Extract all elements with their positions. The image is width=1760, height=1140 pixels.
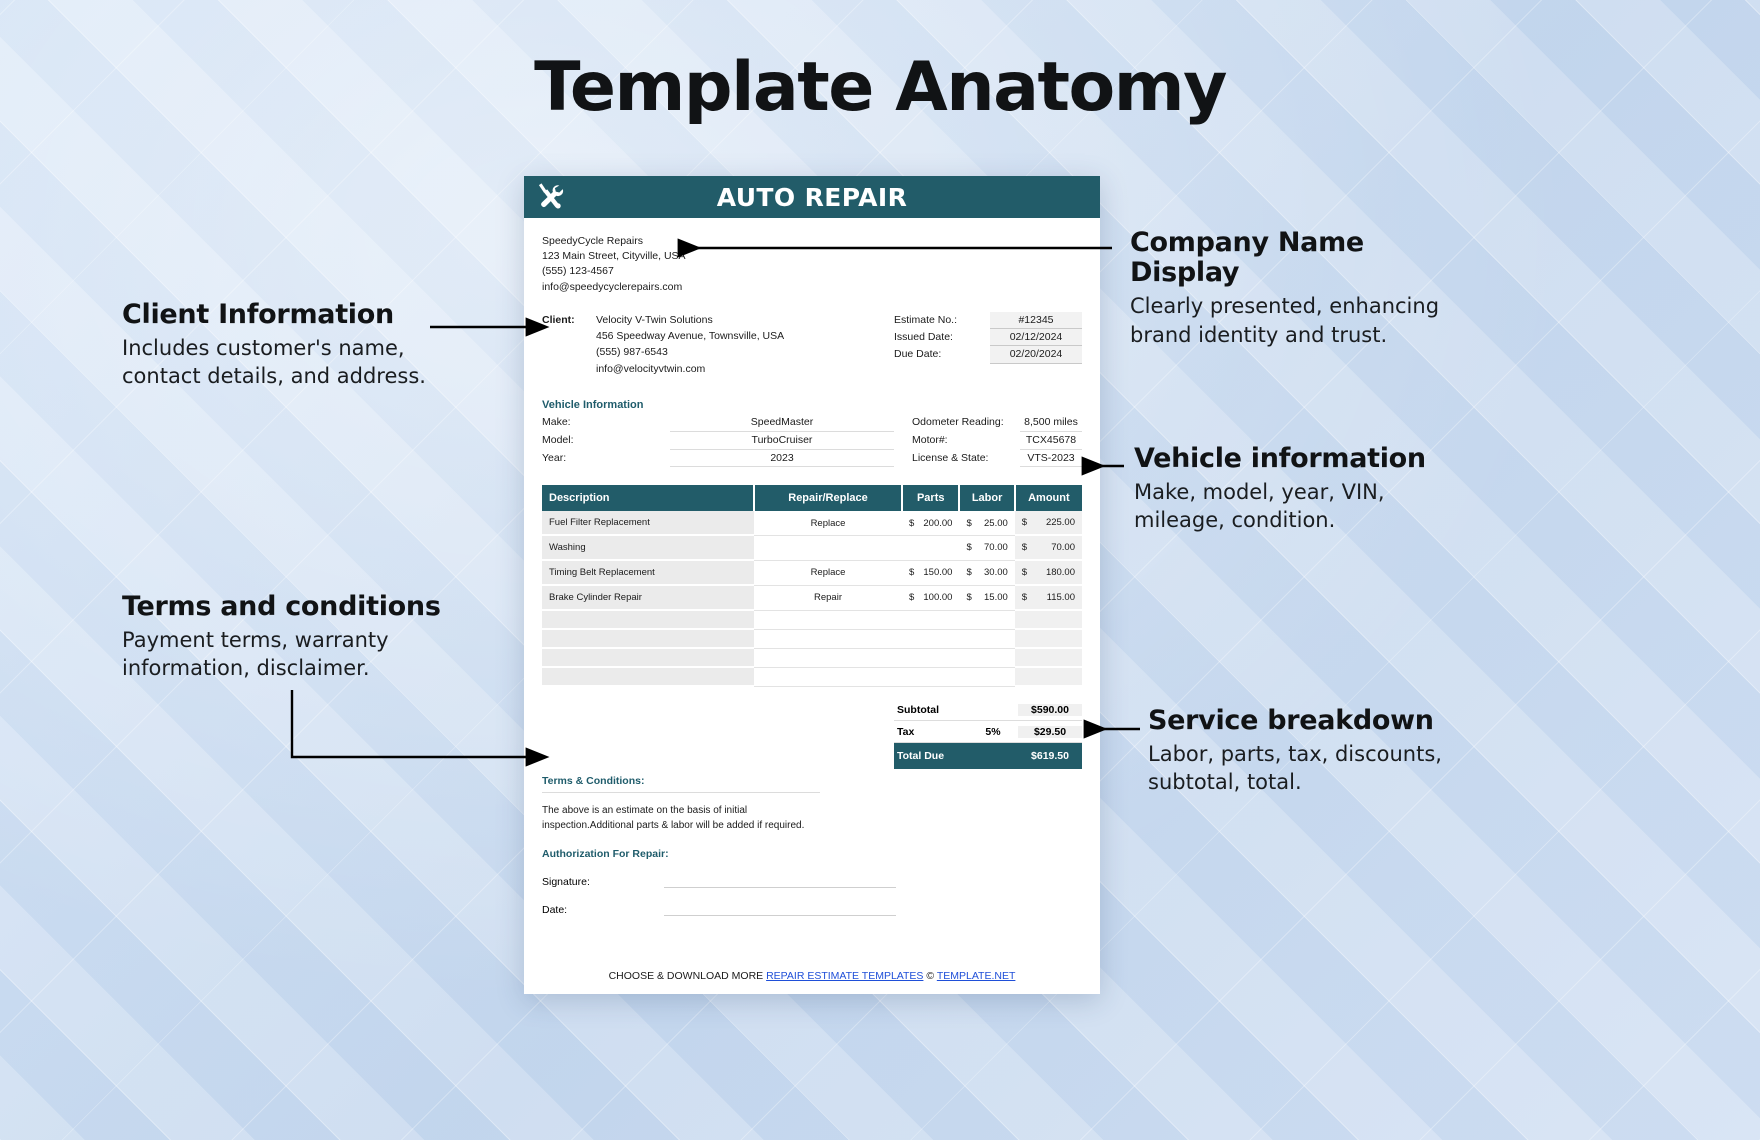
- cell-repair-replace[interactable]: Replace: [754, 560, 902, 585]
- vehicle-make-label: Make:: [542, 414, 670, 431]
- callout-terms-body: Payment terms, warranty information, dis…: [122, 626, 512, 682]
- cell-amount: [1015, 610, 1082, 629]
- company-address: 123 Main Street, Cityville, USA: [542, 249, 1082, 264]
- callout-service-breakdown: Service breakdown Labor, parts, tax, dis…: [1148, 706, 1508, 796]
- callout-client-information: Client Information Includes customer's n…: [122, 300, 452, 390]
- cell-labor[interactable]: [959, 648, 1014, 667]
- footer-link-repair-estimate-templates[interactable]: REPAIR ESTIMATE TEMPLATES: [766, 970, 923, 982]
- cell-description[interactable]: [542, 629, 754, 648]
- table-header-row: Description Repair/Replace Parts Labor A…: [542, 485, 1082, 511]
- subtotal-label: Subtotal: [894, 704, 968, 716]
- cell-amount: $115.00: [1015, 585, 1082, 610]
- callout-company-body: Clearly presented, enhancing brand ident…: [1130, 292, 1470, 348]
- vehicle-license-value[interactable]: VTS-2023: [1020, 450, 1082, 468]
- cell-description[interactable]: Brake Cylinder Repair: [542, 585, 754, 610]
- footer-copyright: ©: [923, 970, 936, 982]
- cell-description[interactable]: [542, 667, 754, 686]
- client-address: 456 Speedway Avenue, Townsville, USA: [596, 328, 894, 344]
- estimate-meta-block: Estimate No.: #12345 Issued Date: 02/12/…: [894, 312, 1082, 377]
- table-row[interactable]: Fuel Filter ReplacementReplace$200.00$25…: [542, 511, 1082, 535]
- wrench-screwdriver-icon: [533, 180, 567, 214]
- vehicle-license-label: License & State:: [894, 450, 1020, 467]
- callout-service-body: Labor, parts, tax, discounts, subtotal, …: [1148, 740, 1508, 796]
- signature-input-line[interactable]: [664, 876, 896, 888]
- client-label: Client:: [542, 312, 596, 328]
- document-header-bar: AUTO REPAIR: [524, 176, 1100, 218]
- date-input-line[interactable]: [664, 904, 896, 916]
- column-header-amount: Amount: [1015, 485, 1082, 511]
- company-info-block: SpeedyCycle Repairs 123 Main Street, Cit…: [542, 234, 1082, 295]
- subtotal-row: Subtotal $590.00: [894, 699, 1082, 721]
- cell-repair-replace[interactable]: [754, 667, 902, 686]
- vehicle-info-grid: Make: SpeedMaster Odometer Reading: 8,50…: [542, 414, 1082, 467]
- cell-labor[interactable]: [959, 629, 1014, 648]
- cell-parts[interactable]: [902, 629, 959, 648]
- table-row[interactable]: [542, 648, 1082, 667]
- cell-amount: $180.00: [1015, 560, 1082, 585]
- footer-prefix: CHOOSE & DOWNLOAD MORE: [609, 970, 767, 982]
- client-spacer-1: [542, 328, 596, 344]
- cell-repair-replace[interactable]: [754, 648, 902, 667]
- cell-amount: $225.00: [1015, 511, 1082, 535]
- vehicle-section-title: Vehicle Information: [542, 399, 1082, 411]
- totals-left-spacer: [542, 699, 894, 769]
- vehicle-row: Make: SpeedMaster Odometer Reading: 8,50…: [542, 414, 1082, 432]
- company-name: SpeedyCycle Repairs: [542, 234, 1082, 249]
- table-row[interactable]: Washing$70.00$70.00: [542, 535, 1082, 560]
- total-due-row: Total Due $619.50: [894, 743, 1082, 769]
- callout-client-body: Includes customer's name, contact detail…: [122, 334, 452, 390]
- estimate-no-label: Estimate No.:: [894, 312, 990, 328]
- column-header-repair-replace: Repair/Replace: [754, 485, 902, 511]
- tax-rate[interactable]: 5%: [968, 726, 1018, 738]
- callout-service-title: Service breakdown: [1148, 706, 1508, 736]
- vehicle-make-value[interactable]: SpeedMaster: [670, 414, 894, 432]
- cell-parts[interactable]: $150.00: [902, 560, 959, 585]
- client-and-estimate-section: Client: Velocity V-Twin Solutions 456 Sp…: [542, 312, 1082, 377]
- signature-row: Signature:: [542, 876, 1082, 888]
- vehicle-odometer-value[interactable]: 8,500 miles: [1020, 414, 1082, 432]
- estimate-row: Due Date: 02/20/2024: [894, 346, 1082, 363]
- table-row[interactable]: Brake Cylinder RepairRepair$100.00$15.00…: [542, 585, 1082, 610]
- client-spacer-3: [542, 361, 596, 377]
- client-name-row: Client: Velocity V-Twin Solutions: [542, 312, 894, 328]
- cell-parts[interactable]: [902, 648, 959, 667]
- tax-label: Tax: [894, 726, 968, 738]
- cell-parts[interactable]: [902, 610, 959, 629]
- callout-vehicle-information: Vehicle information Make, model, year, V…: [1134, 444, 1474, 534]
- company-email: info@speedycyclerepairs.com: [542, 280, 1082, 295]
- cell-repair-replace[interactable]: [754, 610, 902, 629]
- cell-repair-replace[interactable]: Repair: [754, 585, 902, 610]
- client-name: Velocity V-Twin Solutions: [596, 312, 894, 328]
- cell-parts[interactable]: [902, 535, 959, 560]
- page-title: Template Anatomy: [0, 48, 1760, 127]
- document-title: AUTO REPAIR: [524, 183, 1100, 212]
- auto-repair-estimate-document: AUTO REPAIR SpeedyCycle Repairs 123 Main…: [524, 176, 1100, 994]
- estimate-no-value[interactable]: #12345: [990, 312, 1082, 329]
- table-row[interactable]: [542, 610, 1082, 629]
- cell-repair-replace[interactable]: [754, 629, 902, 648]
- column-header-description: Description: [542, 485, 754, 511]
- terms-divider: [542, 792, 820, 793]
- tax-value: $29.50: [1018, 726, 1082, 738]
- vehicle-year-label: Year:: [542, 450, 670, 467]
- company-phone: (555) 123-4567: [542, 264, 1082, 279]
- cell-description[interactable]: Washing: [542, 535, 754, 560]
- cell-amount: [1015, 667, 1082, 686]
- terms-title: Terms & Conditions:: [542, 775, 1082, 787]
- cell-labor[interactable]: $15.00: [959, 585, 1014, 610]
- cell-description[interactable]: [542, 610, 754, 629]
- vehicle-year-value[interactable]: 2023: [670, 450, 894, 468]
- cell-amount: [1015, 629, 1082, 648]
- cell-description[interactable]: Timing Belt Replacement: [542, 560, 754, 585]
- client-phone: (555) 987-6543: [596, 344, 894, 360]
- date-row: Date:: [542, 904, 1082, 916]
- due-date-value[interactable]: 02/20/2024: [990, 346, 1082, 363]
- client-email: info@velocityvtwin.com: [596, 361, 894, 377]
- cell-labor[interactable]: $25.00: [959, 511, 1014, 535]
- column-header-labor: Labor: [959, 485, 1014, 511]
- client-spacer-2: [542, 344, 596, 360]
- cell-labor[interactable]: [959, 667, 1014, 686]
- column-header-parts: Parts: [902, 485, 959, 511]
- cell-repair-replace[interactable]: Replace: [754, 511, 902, 535]
- authorization-title: Authorization For Repair:: [542, 848, 1082, 860]
- estimate-row: Estimate No.: #12345: [894, 312, 1082, 329]
- document-footer: CHOOSE & DOWNLOAD MORE REPAIR ESTIMATE T…: [524, 970, 1100, 982]
- totals-section: Subtotal $590.00 Tax 5% $29.50 Total Due…: [542, 699, 1082, 769]
- callout-company-name-display: Company Name Display Clearly presented, …: [1130, 228, 1470, 349]
- totals-right-column: Subtotal $590.00 Tax 5% $29.50 Total Due…: [894, 699, 1082, 769]
- callout-client-title: Client Information: [122, 300, 452, 330]
- cell-parts[interactable]: $200.00: [902, 511, 959, 535]
- issued-date-value[interactable]: 02/12/2024: [990, 329, 1082, 346]
- vehicle-model-value[interactable]: TurboCruiser: [670, 432, 894, 450]
- vehicle-row: Year: 2023 License & State: VTS-2023: [542, 450, 1082, 468]
- line-items-table: Description Repair/Replace Parts Labor A…: [542, 485, 1082, 687]
- table-row[interactable]: [542, 629, 1082, 648]
- vehicle-row: Model: TurboCruiser Motor#: TCX45678: [542, 432, 1082, 450]
- cell-amount: $70.00: [1015, 535, 1082, 560]
- callout-terms-title: Terms and conditions: [122, 592, 512, 622]
- cell-amount: [1015, 648, 1082, 667]
- vehicle-odometer-label: Odometer Reading:: [894, 414, 1020, 431]
- total-due-value: $619.50: [1018, 750, 1082, 762]
- cell-repair-replace[interactable]: [754, 535, 902, 560]
- vehicle-model-label: Model:: [542, 432, 670, 449]
- date-label: Date:: [542, 904, 664, 916]
- due-date-label: Due Date:: [894, 346, 990, 362]
- cell-labor[interactable]: $70.00: [959, 535, 1014, 560]
- cell-labor[interactable]: $30.00: [959, 560, 1014, 585]
- table-row[interactable]: Timing Belt ReplacementReplace$150.00$30…: [542, 560, 1082, 585]
- tax-row: Tax 5% $29.50: [894, 721, 1082, 743]
- total-due-label: Total Due: [894, 750, 968, 762]
- callout-company-title: Company Name Display: [1130, 228, 1470, 288]
- vehicle-motor-label: Motor#:: [894, 432, 1020, 449]
- client-address-row: 456 Speedway Avenue, Townsville, USA: [542, 328, 894, 344]
- client-phone-row: (555) 987-6543: [542, 344, 894, 360]
- cell-description[interactable]: Fuel Filter Replacement: [542, 511, 754, 535]
- terms-body-text: The above is an estimate on the basis of…: [542, 804, 814, 833]
- issued-date-label: Issued Date:: [894, 329, 990, 345]
- callout-terms-and-conditions: Terms and conditions Payment terms, warr…: [122, 592, 512, 682]
- callout-vehicle-title: Vehicle information: [1134, 444, 1474, 474]
- subtotal-value: $590.00: [1018, 704, 1082, 716]
- cell-parts[interactable]: [902, 667, 959, 686]
- estimate-row: Issued Date: 02/12/2024: [894, 329, 1082, 346]
- cell-labor[interactable]: [959, 610, 1014, 629]
- client-email-row: info@velocityvtwin.com: [542, 361, 894, 377]
- callout-vehicle-body: Make, model, year, VIN, mileage, conditi…: [1134, 478, 1474, 534]
- line-items-body: Fuel Filter ReplacementReplace$200.00$25…: [542, 511, 1082, 686]
- footer-link-template-net[interactable]: TEMPLATE.NET: [937, 970, 1016, 982]
- cell-description[interactable]: [542, 648, 754, 667]
- vehicle-motor-value[interactable]: TCX45678: [1020, 432, 1082, 450]
- client-info-block: Client: Velocity V-Twin Solutions 456 Sp…: [542, 312, 894, 377]
- cell-parts[interactable]: $100.00: [902, 585, 959, 610]
- signature-label: Signature:: [542, 876, 664, 888]
- table-row[interactable]: [542, 667, 1082, 686]
